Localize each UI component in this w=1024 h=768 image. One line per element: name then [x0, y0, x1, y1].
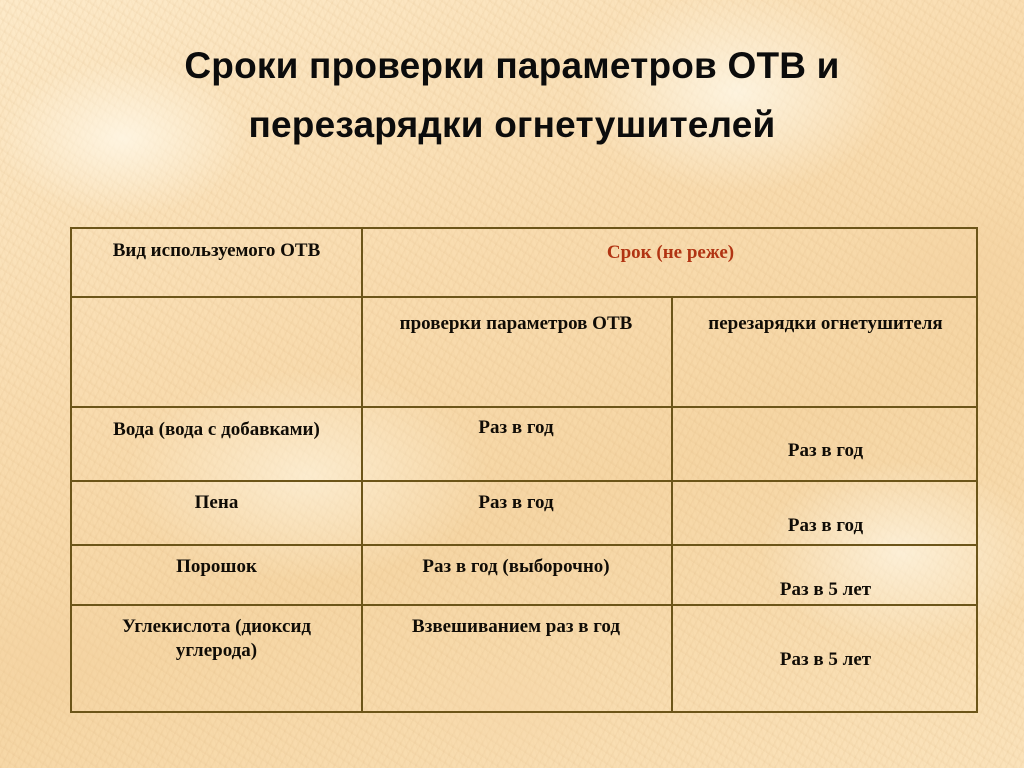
table-header-term-span: Срок (не реже) — [363, 229, 978, 296]
table-row: Взвешиванием раз в год — [363, 606, 669, 711]
table-row: Раз в 5 лет — [673, 606, 978, 711]
table-row: Порошок — [72, 546, 361, 604]
table-header-agent: Вид используемого ОТВ — [72, 229, 361, 296]
table-row: Раз в 5 лет — [673, 546, 978, 604]
table-row: Раз в год (выборочно) — [363, 546, 669, 604]
table-subheader-check: проверки параметров ОТВ — [363, 298, 669, 406]
page-title-line-2: перезарядки огнетушителей — [60, 95, 964, 154]
slide-canvas: Сроки проверки параметров ОТВ и перезаря… — [0, 0, 1024, 768]
table-row: Раз в год — [363, 482, 669, 544]
page-title-line-1: Сроки проверки параметров ОТВ и — [60, 36, 964, 95]
table-row: Углекислота (диоксид углерода) — [72, 606, 361, 711]
table-row: Раз в год — [673, 408, 978, 480]
table-subheader-recharge: перезарядки огнетушителя — [673, 298, 978, 406]
otv-schedule-table: Вид используемого ОТВ Срок (не реже) про… — [70, 227, 978, 713]
table-row: Раз в год — [363, 408, 669, 480]
page-title: Сроки проверки параметров ОТВ и перезаря… — [60, 36, 964, 154]
table-row: Пена — [72, 482, 361, 544]
table-row: Вода (вода с добавками) — [72, 408, 361, 480]
table-row: Раз в год — [673, 482, 978, 544]
